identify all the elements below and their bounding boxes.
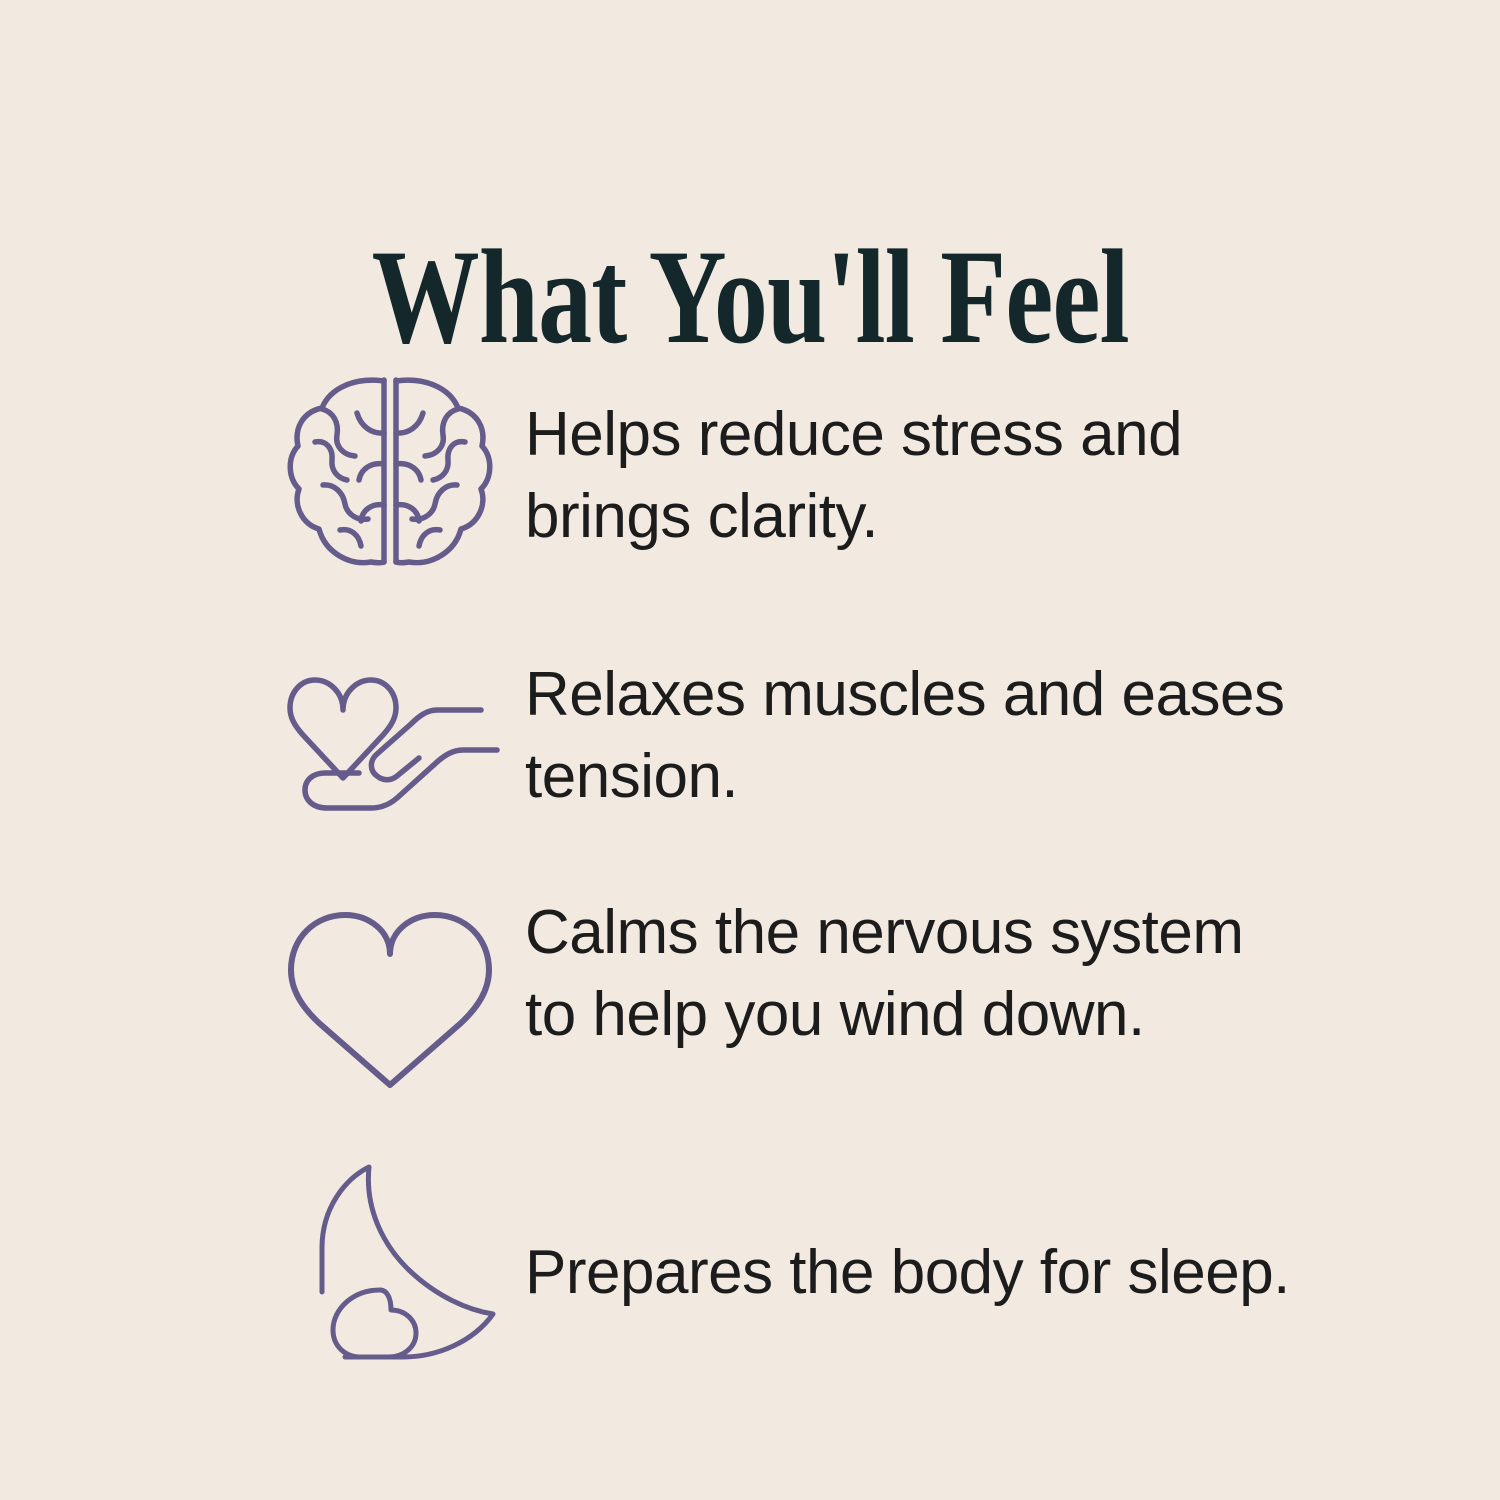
list-item-label: Helps reduce stress and brings clarity.	[515, 360, 1295, 558]
page-title: What You'll Feel	[371, 230, 1128, 365]
moon-cloud-icon	[285, 1162, 500, 1362]
list-item: Prepares the body for sleep.	[285, 1152, 1295, 1412]
benefits-card: What You'll Feel	[0, 0, 1500, 1500]
list-item-label: Prepares the body for sleep.	[515, 1152, 1295, 1314]
list-item: Calms the nervous system to help you win…	[285, 880, 1295, 1152]
brain-icon-container	[285, 360, 515, 572]
list-item-label: Calms the nervous system to help you win…	[515, 880, 1295, 1056]
list-item: Relaxes muscles and eases tension.	[285, 630, 1295, 880]
moon-cloud-icon-container	[285, 1152, 515, 1362]
heart-in-hand-icon-container	[285, 630, 515, 828]
benefits-list: Helps reduce stress and brings clarity. …	[285, 360, 1295, 1412]
heart-icon-container	[285, 880, 515, 1090]
heart-icon	[285, 910, 495, 1090]
list-item-label: Relaxes muscles and eases tension.	[515, 630, 1295, 818]
brain-icon	[285, 372, 495, 572]
heart-in-hand-icon	[285, 658, 500, 828]
list-item: Helps reduce stress and brings clarity.	[285, 360, 1295, 630]
